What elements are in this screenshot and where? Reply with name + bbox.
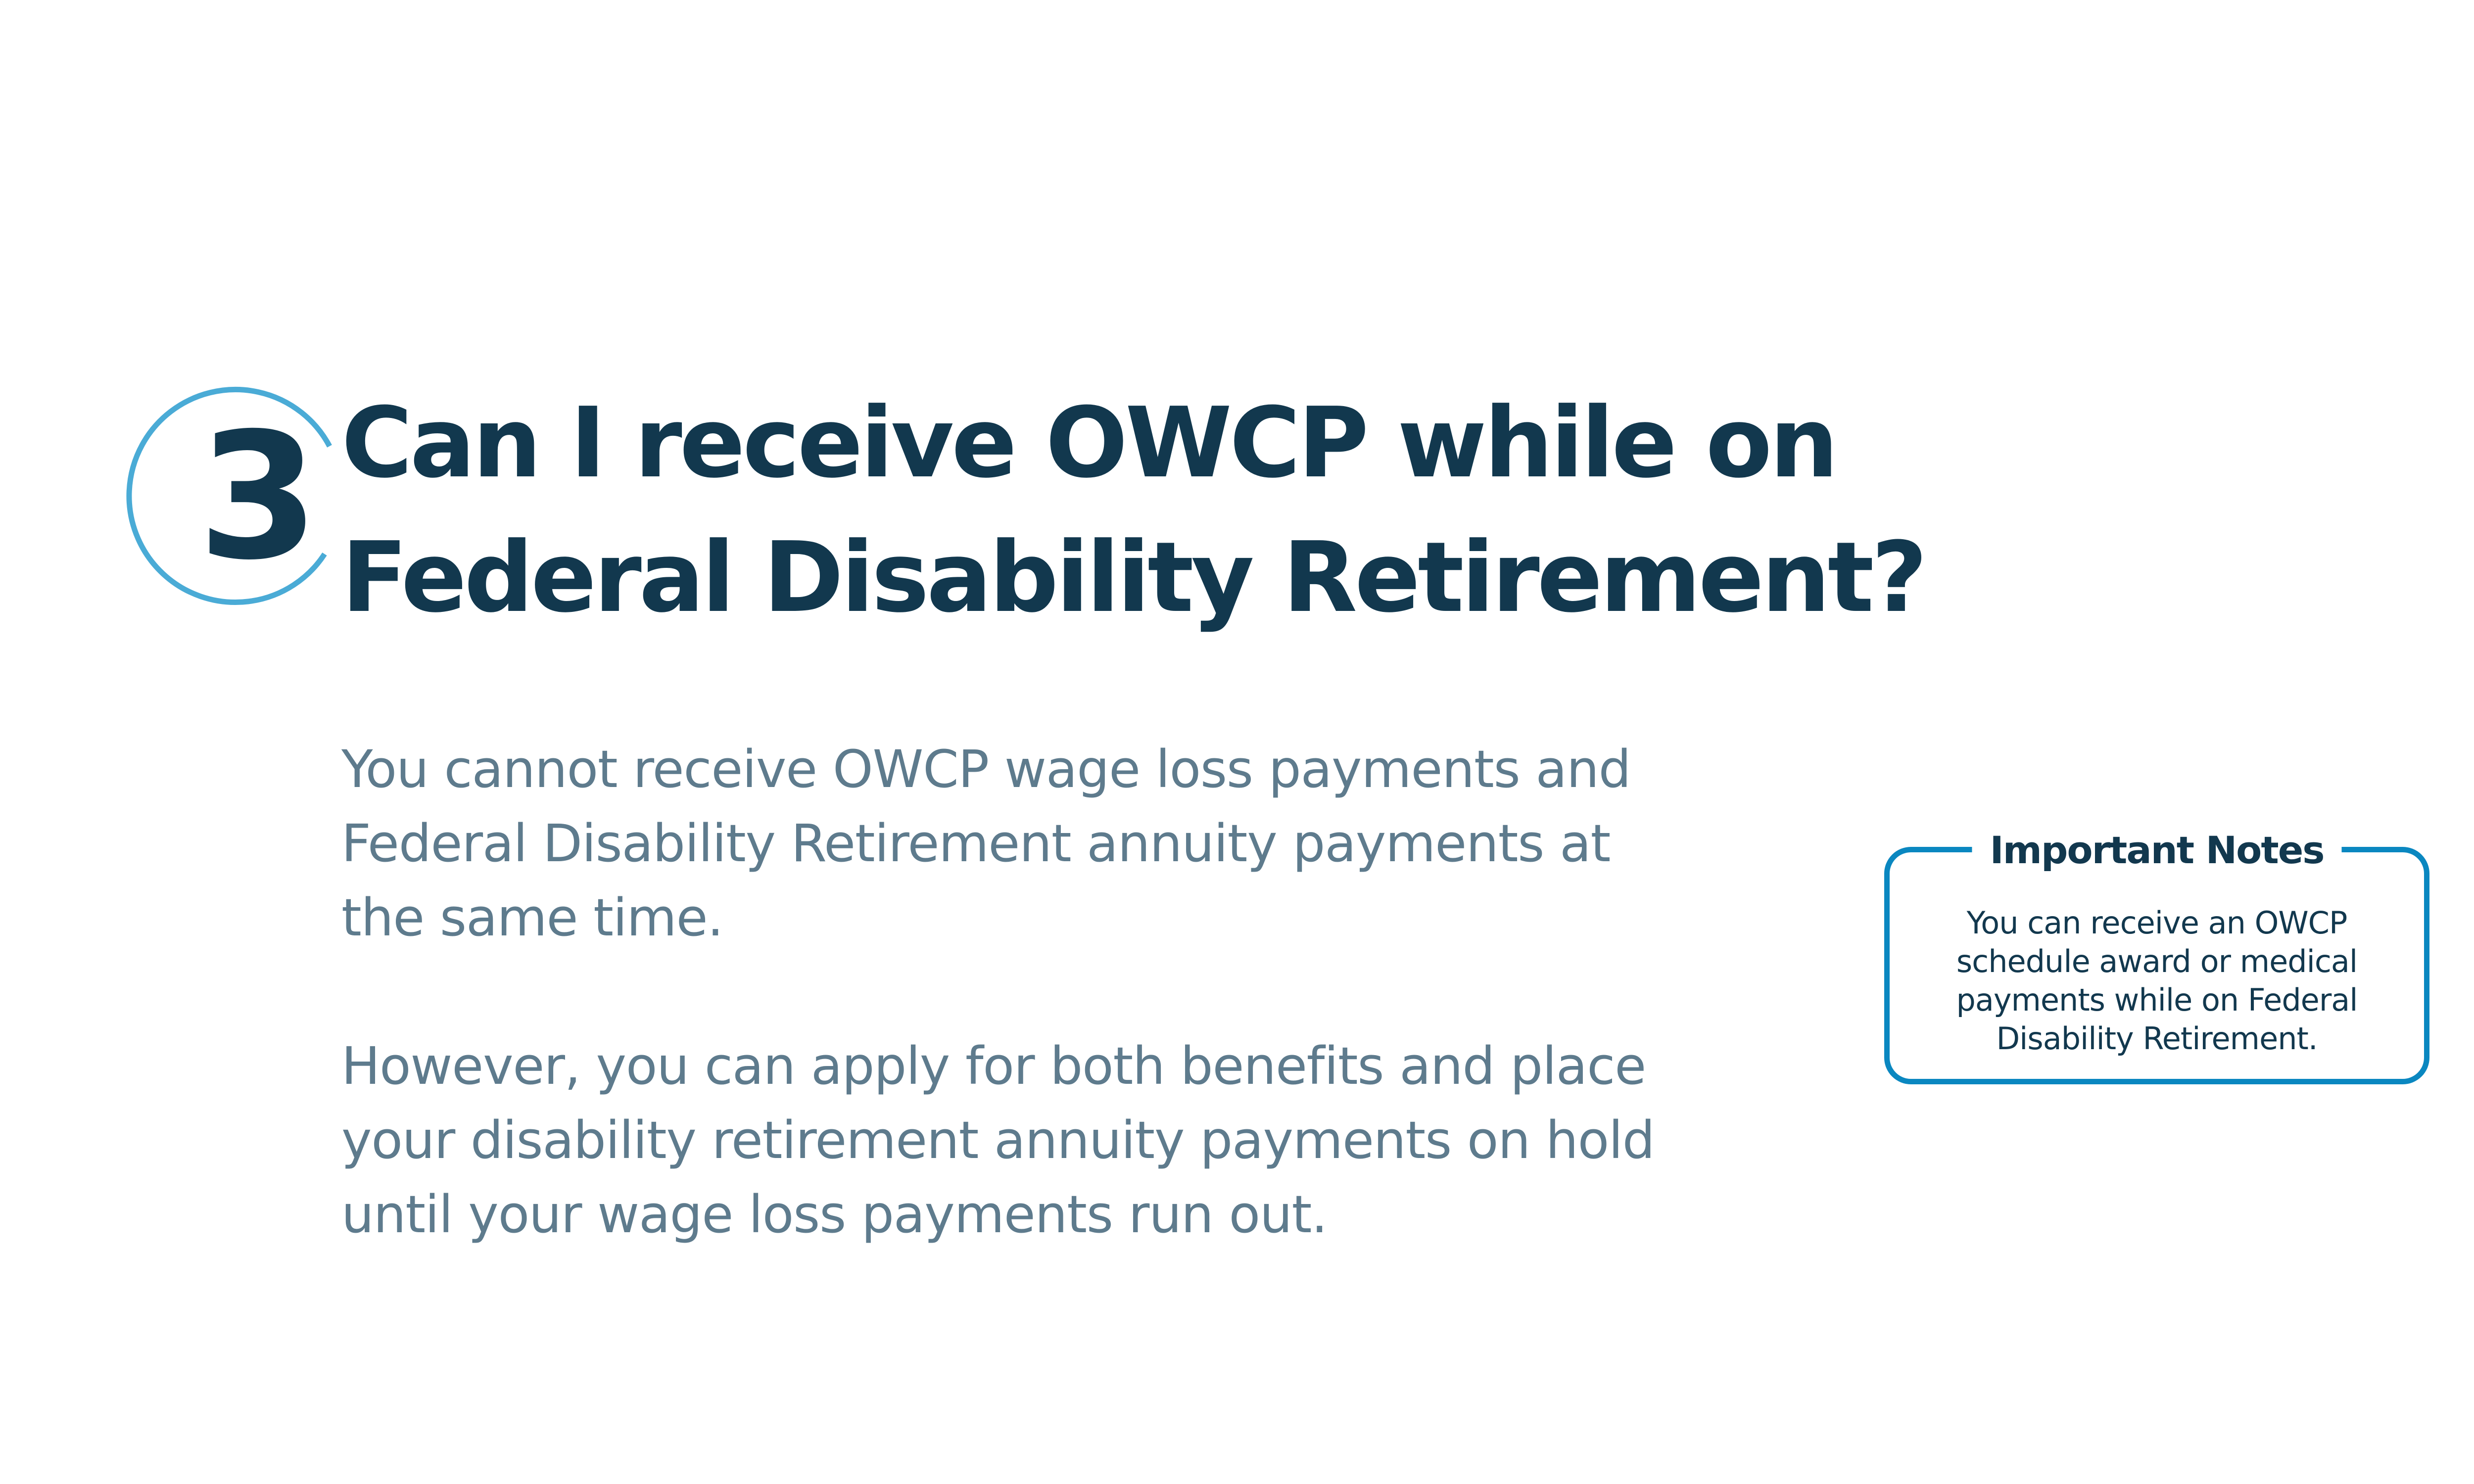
header-block: 3 Can I receive OWCP while on Federal Di… bbox=[0, 0, 2474, 693]
body-paragraph-1: You cannot receive OWCP wage loss paymen… bbox=[341, 732, 1677, 955]
body-paragraph-2: However, you can apply for both benefits… bbox=[341, 1029, 1677, 1252]
page-title-line-1: Can I receive OWCP while on bbox=[341, 376, 2123, 510]
important-notes-text: You can receive an OWCP schedule award o… bbox=[1906, 904, 2407, 1058]
page-title: Can I receive OWCP while on Federal Disa… bbox=[341, 376, 2123, 645]
slide-canvas: 3 Can I receive OWCP while on Federal Di… bbox=[0, 0, 2474, 1484]
important-notes-callout: Important Notes You can receive an OWCP … bbox=[1884, 847, 2429, 1084]
page-title-line-2: Federal Disability Retirement? bbox=[341, 510, 2123, 645]
body-copy: You cannot receive OWCP wage loss paymen… bbox=[341, 732, 1677, 1252]
important-notes-title: Important Notes bbox=[1972, 826, 2341, 875]
step-number: 3 bbox=[198, 411, 312, 584]
